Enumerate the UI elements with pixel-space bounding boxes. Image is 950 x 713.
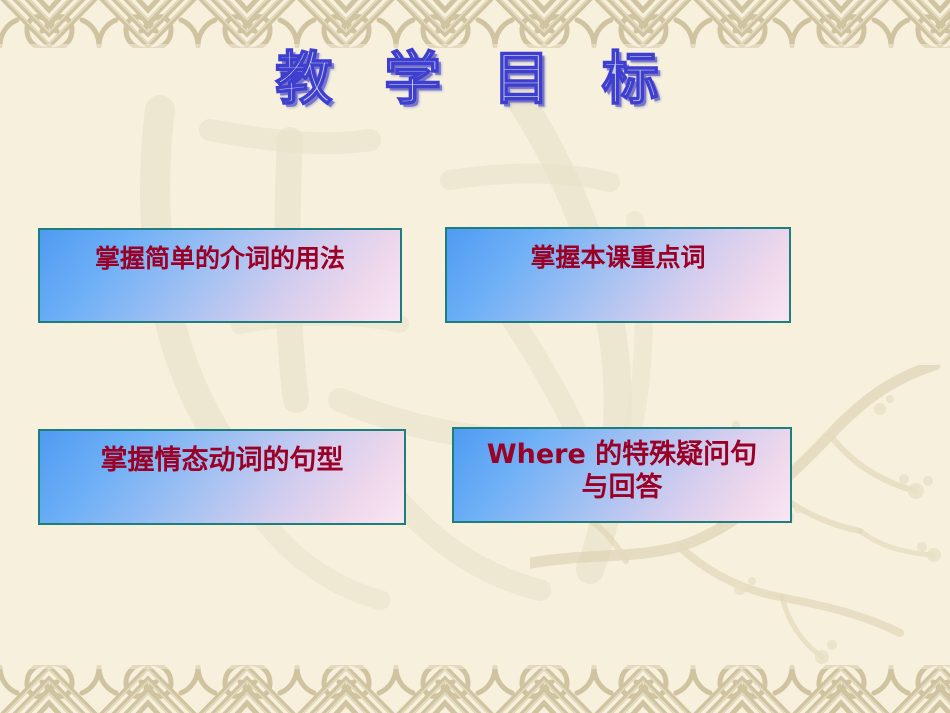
calligraphy-watermark bbox=[90, 70, 730, 630]
goal-box-3-label: 掌握情态动词的句型 bbox=[101, 445, 344, 478]
goal-box-4[interactable]: Where 的特殊疑问句 与回答 bbox=[452, 427, 792, 523]
slide-title: 教 学 目 标 bbox=[0, 48, 950, 111]
goal-box-4-chinese-text: 的特殊疑问句 与回答 bbox=[581, 439, 757, 503]
goal-box-4-english-word: Where bbox=[487, 439, 586, 470]
top-ornament-band bbox=[0, 0, 950, 48]
goal-box-1[interactable]: 掌握简单的介词的用法 bbox=[38, 228, 402, 323]
goal-box-3[interactable]: 掌握情态动词的句型 bbox=[38, 429, 406, 525]
slide-canvas: 教 学 目 标 掌握简单的介词的用法 掌握本课重点词 掌握情态动词的句型 Whe… bbox=[0, 0, 950, 713]
goal-box-1-label: 掌握简单的介词的用法 bbox=[95, 244, 345, 275]
bottom-ornament-band bbox=[0, 665, 950, 713]
goal-box-2-label: 掌握本课重点词 bbox=[530, 243, 705, 274]
goal-box-4-label: Where 的特殊疑问句 与回答 bbox=[487, 439, 757, 505]
goal-box-2[interactable]: 掌握本课重点词 bbox=[445, 227, 791, 323]
